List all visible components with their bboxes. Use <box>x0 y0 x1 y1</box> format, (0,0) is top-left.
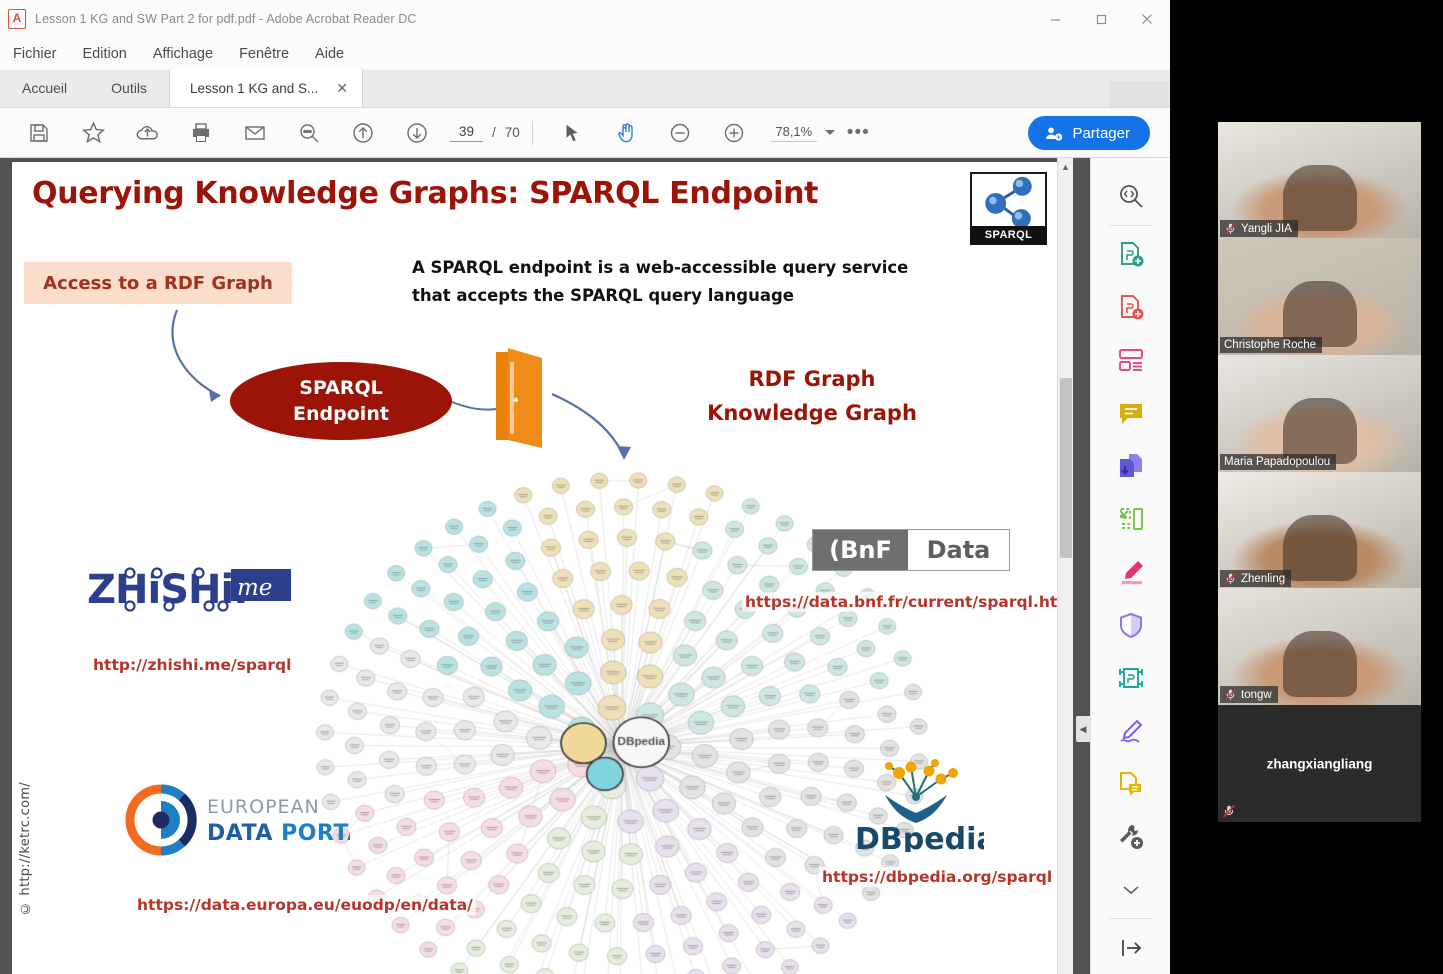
maximize-button[interactable] <box>1078 0 1124 38</box>
pdf-page[interactable]: Querying Knowledge Graphs: SPARQL Endpoi… <box>12 162 1057 974</box>
create-pdf-tool[interactable] <box>1103 281 1159 334</box>
ellipse-line-1: SPARQL <box>299 375 382 401</box>
menu-fichier[interactable]: Fichier <box>0 38 70 70</box>
participant-name-center: zhangxiangliang <box>1218 756 1421 771</box>
sparql-endpoint-ellipse: SPARQL Endpoint <box>230 362 452 440</box>
share-button[interactable]: Partager <box>1028 116 1150 150</box>
close-icon[interactable]: ✕ <box>336 80 348 97</box>
participant-tile[interactable]: Maria Papadopoulou <box>1218 355 1421 472</box>
menu-affichage[interactable]: Affichage <box>140 38 226 70</box>
tab-outils[interactable]: Outils <box>89 69 169 107</box>
participant-name: Yangli JIA <box>1241 223 1292 235</box>
page-total: 70 <box>505 125 520 140</box>
ellipse-line-2: Endpoint <box>293 401 389 427</box>
tab-placeholder <box>1110 81 1170 107</box>
tab-strip: Accueil Outils Lesson 1 KG and S... ✕ <box>0 70 1170 108</box>
organize-pages-tool[interactable] <box>1103 493 1159 546</box>
tab-document[interactable]: Lesson 1 KG and S... ✕ <box>169 69 363 107</box>
bnf-data-logo: (BnF Data <box>812 529 1010 571</box>
url-zhishi: http://zhishi.me/sparql <box>90 655 294 675</box>
combine-files-tool[interactable] <box>1103 440 1159 493</box>
person-add-icon <box>1044 124 1063 143</box>
highlight-tool[interactable] <box>1103 546 1159 599</box>
zoom-out-icon[interactable] <box>653 113 707 153</box>
mic-muted-icon <box>1224 572 1237 585</box>
collapse-panel-icon[interactable] <box>1103 921 1159 974</box>
email-icon[interactable] <box>228 113 282 153</box>
rdf-line-2: Knowledge Graph <box>672 396 952 430</box>
window-controls <box>1032 0 1170 38</box>
acrobat-reader-window: Lesson 1 KG and SW Part 2 for pdf.pdf - … <box>0 0 1170 974</box>
window-title: Lesson 1 KG and SW Part 2 for pdf.pdf - … <box>35 12 417 26</box>
print-icon[interactable] <box>174 113 228 153</box>
url-bnf: https://data.bnf.fr/current/sparql.html <box>742 592 1057 612</box>
tab-document-label: Lesson 1 KG and S... <box>190 81 318 96</box>
menu-bar: Fichier Edition Affichage Fenêtre Aide <box>0 38 1170 70</box>
participant-tile[interactable]: Yangli JIA <box>1218 122 1421 239</box>
pdf-icon <box>8 9 26 29</box>
participant-name: Zhenling <box>1241 573 1285 585</box>
upload-cloud-icon[interactable] <box>120 113 174 153</box>
svg-text:DBpedia: DBpedia <box>855 822 984 852</box>
participant-name: tongw <box>1241 689 1272 701</box>
participant-tile[interactable]: Zhenling <box>1218 472 1421 589</box>
page-up-icon[interactable] <box>336 113 390 153</box>
zhishi-me-logo: ZHiSHi. me <box>87 565 292 613</box>
participant-nametag: Zhenling <box>1220 570 1291 587</box>
tab-accueil[interactable]: Accueil <box>0 69 89 107</box>
sparql-logo: SPARQL <box>970 172 1047 245</box>
toolbar-divider-1 <box>532 121 533 145</box>
participant-tile[interactable]: tongw <box>1218 588 1421 705</box>
star-icon[interactable] <box>66 113 120 153</box>
access-rdf-graph-box: Access to a RDF Graph <box>24 262 292 304</box>
zoom-participants-panel: Yangli JIAChristophe RocheMaria Papadopo… <box>1170 0 1443 974</box>
toolbar: 39 / 70 78,1% ••• <box>0 108 1170 158</box>
menu-edition[interactable]: Edition <box>70 38 140 70</box>
svg-text:EUROPEAN: EUROPEAN <box>207 796 320 818</box>
minimize-button[interactable] <box>1032 0 1078 38</box>
mic-muted-icon <box>1224 688 1237 701</box>
screen: Lesson 1 KG and SW Part 2 for pdf.pdf - … <box>0 0 1443 974</box>
description-line-1: A SPARQL endpoint is a web-accessible qu… <box>412 254 972 282</box>
document-area: Querying Knowledge Graphs: SPARQL Endpoi… <box>0 158 1170 974</box>
description-line-2: that accepts the SPARQL query language <box>412 282 972 310</box>
slide-description: A SPARQL endpoint is a web-accessible qu… <box>412 254 972 310</box>
close-button[interactable] <box>1124 0 1170 38</box>
url-europa: https://data.europa.eu/euodp/en/data/ <box>134 895 476 915</box>
scrollbar-thumb[interactable] <box>1060 378 1072 558</box>
zoom-search-icon[interactable] <box>282 113 336 153</box>
protect-tool[interactable] <box>1103 598 1159 651</box>
door-icon <box>490 348 550 448</box>
fill-sign-tool[interactable] <box>1103 704 1159 757</box>
page-number-input[interactable]: 39 <box>450 124 483 142</box>
bnf-logo-left: (BnF <box>813 530 908 570</box>
tools-rail <box>1090 158 1170 974</box>
participant-tile[interactable]: Christophe Roche <box>1218 238 1421 355</box>
sparql-logo-label: SPARQL <box>970 226 1047 245</box>
chevron-down-icon[interactable] <box>825 130 835 135</box>
svg-text:me: me <box>237 575 272 601</box>
rdf-line-1: RDF Graph <box>672 362 952 396</box>
participant-tile[interactable]: zhangxiangliang <box>1218 705 1421 822</box>
more-tools[interactable] <box>1103 810 1159 863</box>
bnf-logo-right: Data <box>908 530 1009 570</box>
page-indicator: 39 / 70 <box>450 124 520 142</box>
share-label: Partager <box>1072 125 1130 142</box>
rail-divider-2 <box>1109 918 1153 919</box>
export-pdf-tool[interactable] <box>1103 228 1159 281</box>
rdf-graph-label: RDF Graph Knowledge Graph <box>672 362 952 430</box>
mic-muted-icon <box>1224 222 1237 235</box>
participant-silhouette <box>1283 631 1357 697</box>
cursor-icon[interactable] <box>545 113 599 153</box>
comment-tool[interactable] <box>1103 387 1159 440</box>
participant-name: Christophe Roche <box>1224 339 1316 351</box>
page-down-icon[interactable] <box>390 113 444 153</box>
vertical-scrollbar[interactable]: ▲ <box>1057 158 1073 974</box>
european-data-portal-logo: EUROPEAN DATA PORTAL <box>125 784 350 856</box>
more-options-button[interactable]: ••• <box>847 122 870 144</box>
edit-pdf-tool[interactable] <box>1103 334 1159 387</box>
save-icon[interactable] <box>12 113 66 153</box>
menu-fenetre[interactable]: Fenêtre <box>226 38 302 70</box>
url-dbpedia: https://dbpedia.org/sparql <box>819 867 1055 887</box>
title-bar: Lesson 1 KG and SW Part 2 for pdf.pdf - … <box>0 0 1170 38</box>
participant-nametag: tongw <box>1220 686 1278 703</box>
mic-muted-icon <box>1222 804 1236 818</box>
rail-divider <box>1109 225 1153 226</box>
optimize-pdf-tool[interactable] <box>1103 651 1159 704</box>
search-tool[interactable] <box>1103 170 1159 223</box>
vertical-copyright: © http://ketrc.com/ <box>18 782 38 915</box>
participant-silhouette <box>1283 515 1357 581</box>
participant-nametag: Christophe Roche <box>1220 337 1322 353</box>
page-separator: / <box>492 125 496 140</box>
scroll-up-arrow[interactable]: ▲ <box>1058 158 1073 176</box>
menu-aide[interactable]: Aide <box>302 38 357 70</box>
slide-title: Querying Knowledge Graphs: SPARQL Endpoi… <box>32 176 818 211</box>
slide-content: Querying Knowledge Graphs: SPARQL Endpoi… <box>12 162 1057 974</box>
svg-text:DATA PORTAL: DATA PORTAL <box>207 821 350 846</box>
zoom-level-value[interactable]: 78,1% <box>771 124 817 142</box>
stamp-tool[interactable] <box>1103 757 1159 810</box>
zoom-in-icon[interactable] <box>707 113 761 153</box>
chevron-down-icon[interactable] <box>1103 863 1159 916</box>
zoom-control[interactable]: 78,1% <box>771 124 835 142</box>
participant-nametag: Maria Papadopoulou <box>1220 454 1336 470</box>
participant-nametag: Yangli JIA <box>1220 220 1298 237</box>
hand-icon[interactable] <box>599 113 653 153</box>
participant-name: Maria Papadopoulou <box>1224 456 1330 468</box>
dbpedia-logo: DBpedia <box>849 757 984 852</box>
panel-collapse-arrow[interactable]: ◀ <box>1076 716 1090 742</box>
